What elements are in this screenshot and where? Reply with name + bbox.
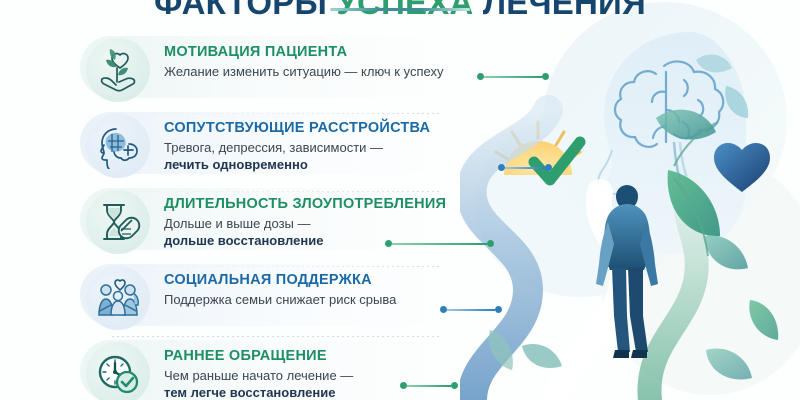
connector-dot: [545, 164, 552, 171]
factor-heading: СОЦИАЛЬНАЯ ПОДДЕРЖКА: [164, 272, 396, 289]
connector-dot: [451, 382, 458, 389]
connector-dot: [495, 306, 502, 313]
connector-bar: [484, 76, 542, 78]
factor-line-1: Поддержка семьи снижает риск срыва: [164, 292, 396, 309]
recovery-journey-illustration: [460, 0, 800, 400]
factor-heading: МОТИВАЦИЯ ПАЦИЕНТА: [164, 44, 443, 61]
factor-item-social-support[interactable]: СОЦИАЛЬНАЯ ПОДДЕРЖКА Поддержка семьи сни…: [0, 262, 470, 334]
factors-list: МОТИВАЦИЯ ПАЦИЕНТА Желание изменить ситу…: [0, 34, 470, 400]
connector-dot: [440, 306, 447, 313]
family-heart-icon: [86, 266, 150, 330]
hourglass-pill-icon: [86, 190, 150, 254]
connector-dot: [400, 382, 407, 389]
connector-social: [440, 306, 502, 313]
factor-text-block: СОПУТСТВУЮЩИЕ РАССТРОЙСТВА Тревога, депр…: [164, 114, 430, 173]
connector-bar: [505, 167, 545, 169]
factor-item-early-treatment[interactable]: РАННЕЕ ОБРАЩЕНИЕ Чем раньше начато лечен…: [0, 338, 470, 400]
connector-dot: [385, 240, 392, 247]
head-brain-plus-icon: [86, 114, 150, 178]
factor-line-1: Дольше и выше дозы —: [164, 216, 446, 233]
factor-line-1: Желание изменить ситуацию — ключ к успех…: [164, 64, 443, 81]
connector-dot: [542, 73, 549, 80]
title-part-treatment: ЛЕЧЕНИЯ: [483, 0, 646, 21]
title-part-factors: ФАКТОРЫ: [154, 0, 336, 21]
clock-check-icon: [86, 342, 150, 400]
factor-line-2: тем легче восстановление: [164, 385, 353, 400]
connector-motivation: [477, 73, 549, 80]
factor-text-block: РАННЕЕ ОБРАЩЕНИЕ Чем раньше начато лечен…: [164, 342, 353, 400]
factor-text-block: СОЦИАЛЬНАЯ ПОДДЕРЖКА Поддержка семьи сни…: [164, 266, 396, 309]
connector-bar: [392, 243, 487, 245]
factor-line-1: Тревога, депрессия, зависимости —: [164, 140, 430, 157]
connector-bar: [447, 309, 495, 311]
factor-item-comorbid-disorders[interactable]: СОПУТСТВУЮЩИЕ РАССТРОЙСТВА Тревога, депр…: [0, 110, 470, 182]
page-title: ФАКТОРЫ УСПЕХА ЛЕЧЕНИЯ: [0, 0, 800, 24]
factor-heading: РАННЕЕ ОБРАЩЕНИЕ: [164, 348, 353, 365]
connector-comorbid: [498, 164, 552, 171]
factor-item-motivation[interactable]: МОТИВАЦИЯ ПАЦИЕНТА Желание изменить ситу…: [0, 34, 470, 106]
factor-line-2: лечить одновременно: [164, 157, 430, 174]
connector-dot: [477, 73, 484, 80]
title-underline: [330, 8, 470, 11]
hand-holding-plant-heart-icon: [86, 38, 150, 102]
connector-early: [400, 382, 458, 389]
connector-dot: [498, 164, 505, 171]
factor-item-duration-of-abuse[interactable]: ДЛИТЕЛЬНОСТЬ ЗЛОУПОТРЕБЛЕНИЯ Дольше и вы…: [0, 186, 470, 258]
connector-bar: [407, 385, 451, 387]
factor-heading: ДЛИТЕЛЬНОСТЬ ЗЛОУПОТРЕБЛЕНИЯ: [164, 196, 446, 213]
connector-duration: [385, 240, 494, 247]
factor-heading: СОПУТСТВУЮЩИЕ РАССТРОЙСТВА: [164, 120, 430, 137]
factor-text-block: МОТИВАЦИЯ ПАЦИЕНТА Желание изменить ситу…: [164, 38, 443, 81]
infographic-canvas: ФАКТОРЫ УСПЕХА ЛЕЧЕНИЯ: [0, 0, 800, 400]
factor-line-1: Чем раньше начато лечение —: [164, 368, 353, 385]
connector-dot: [487, 240, 494, 247]
